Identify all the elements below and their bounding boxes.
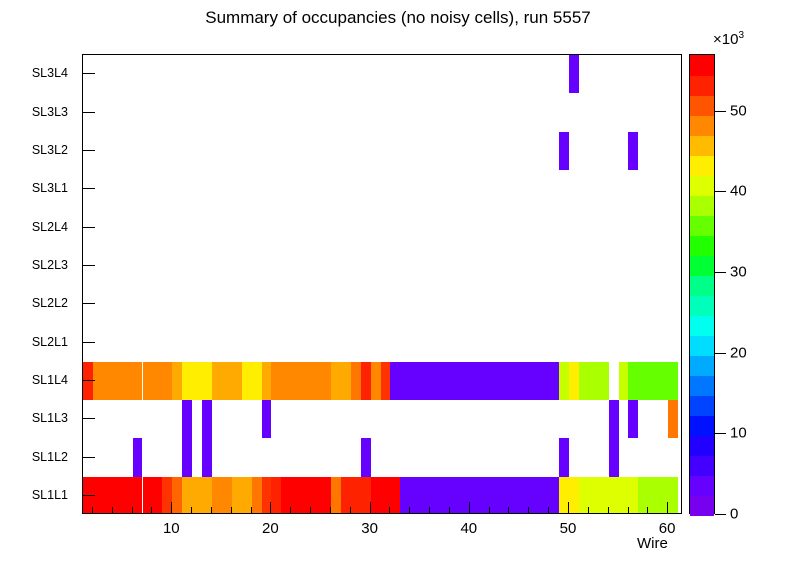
heatmap-cell [381, 362, 391, 400]
heatmap-cell [628, 400, 638, 438]
heatmap-cell [529, 477, 539, 514]
colorbar-band [690, 215, 714, 236]
x-axis-tick-minor [628, 507, 629, 514]
heatmap-cell [172, 362, 182, 400]
y-axis-label-sl3l3: SL3L3 [32, 105, 68, 119]
x-axis-tick-minor [548, 507, 549, 514]
y-axis-label-sl3l1: SL3L1 [32, 181, 68, 195]
heatmap-cell [182, 438, 192, 476]
y-axis-label-sl2l1: SL2L1 [32, 335, 68, 349]
heatmap-cell [291, 362, 301, 400]
colorbar-band [690, 255, 714, 276]
heatmap-cell [628, 477, 638, 514]
y-axis-tick [82, 227, 95, 228]
heatmap-cell [83, 362, 93, 400]
heatmap-cell [321, 362, 331, 400]
heatmap-cell [361, 362, 371, 400]
colorbar-tick-label: 40 [730, 183, 747, 200]
heatmap-cell [212, 362, 222, 400]
x-axis-tick-label: 40 [460, 520, 477, 537]
x-axis-tick-minor [191, 507, 192, 514]
x-axis-tick-major [469, 502, 470, 514]
y-axis-tick [82, 380, 95, 381]
heatmap-cell [410, 477, 420, 514]
y-axis-label-sl1l2: SL1L2 [32, 450, 68, 464]
x-axis-tick-major [667, 502, 668, 514]
heatmap-cell [430, 362, 440, 400]
heatmap-cell [609, 400, 619, 438]
colorbar-tick [715, 433, 726, 434]
colorbar-tick-label: 0 [730, 506, 738, 523]
y-axis-tick [82, 457, 95, 458]
x-axis-tick-minor [389, 507, 390, 514]
colorbar-exponent-label: ×103 [713, 30, 744, 48]
heatmap-cell [222, 362, 232, 400]
heatmap-cell [470, 362, 480, 400]
colorbar-band [690, 455, 714, 476]
heatmap-cell [143, 362, 153, 400]
colorbar-band [690, 155, 714, 176]
colorbar-band [690, 275, 714, 296]
colorbar-tick-label: 30 [730, 263, 747, 280]
colorbar-tick-label: 10 [730, 425, 747, 442]
root-canvas: Summary of occupancies (no noisy cells),… [0, 0, 796, 572]
x-axis-tick-label: 10 [163, 520, 180, 537]
heatmap-cell [202, 400, 212, 438]
page-title: Summary of occupancies (no noisy cells),… [0, 8, 796, 28]
x-axis-tick-minor [608, 507, 609, 514]
heatmap-cell [559, 362, 569, 400]
colorbar-band [690, 75, 714, 96]
colorbar-band [690, 415, 714, 436]
heatmap-cell [331, 477, 341, 514]
x-axis-tick-minor [330, 507, 331, 514]
heatmap-cell [450, 477, 460, 514]
heatmap-cell [410, 362, 420, 400]
heatmap-cell [609, 438, 619, 476]
heatmap-cell [311, 362, 321, 400]
heatmap-cell [192, 477, 202, 514]
heatmap-cell [172, 477, 182, 514]
x-axis-tick-minor [350, 507, 351, 514]
heatmap-cell [202, 362, 212, 400]
heatmap-cell [390, 362, 400, 400]
heatmap-cell [162, 362, 172, 400]
y-axis-label-sl2l4: SL2L4 [32, 220, 68, 234]
y-axis-label-sl2l2: SL2L2 [32, 296, 68, 310]
heatmap-cell [668, 362, 678, 400]
x-axis-tick-minor [449, 507, 450, 514]
x-axis-tick-minor [508, 507, 509, 514]
x-axis-tick-minor [310, 507, 311, 514]
heatmap-cell [609, 477, 619, 514]
heatmap-cell [569, 477, 579, 514]
heatmap-cell [242, 362, 252, 400]
y-axis-tick [82, 150, 95, 151]
x-axis-tick-major [171, 502, 172, 514]
colorbar-tick [715, 272, 726, 273]
heatmap-cell [579, 362, 589, 400]
heatmap-cell [519, 362, 529, 400]
heatmap-cell [341, 362, 351, 400]
colorbar-band [690, 115, 714, 136]
colorbar-band [690, 315, 714, 336]
heatmap-cell [569, 362, 579, 400]
colorbar-tick [715, 514, 726, 515]
x-axis-tick-minor [92, 507, 93, 514]
heatmap-cell [628, 132, 638, 170]
y-axis-tick [82, 73, 95, 74]
heatmap-cell [470, 477, 480, 514]
heatmap-cell [509, 477, 519, 514]
heatmap-cell [420, 362, 430, 400]
x-axis-tick-minor [112, 507, 113, 514]
heatmap-cell [460, 362, 470, 400]
heatmap-cell [619, 362, 629, 400]
heatmap-cell [361, 438, 371, 476]
heatmap-cell [252, 362, 262, 400]
x-axis-tick-minor [429, 507, 430, 514]
heatmap-cell [559, 438, 569, 476]
heatmap-cell [182, 400, 192, 438]
heatmap-cell [252, 477, 262, 514]
colorbar-band [690, 235, 714, 256]
heatmap-cell [103, 362, 113, 400]
y-axis-tick [82, 495, 95, 496]
x-axis-tick-minor [231, 507, 232, 514]
colorbar-band [690, 375, 714, 396]
x-axis-tick-minor [290, 507, 291, 514]
plot-area [82, 54, 682, 514]
heatmap-cell [400, 362, 410, 400]
heatmap-cell [202, 438, 212, 476]
colorbar-tick [715, 111, 726, 112]
heatmap-cell [351, 362, 361, 400]
colorbar-exponent-power: 3 [738, 30, 744, 41]
heatmap-cell [271, 477, 281, 514]
colorbar-band [690, 495, 714, 516]
x-axis-title: Wire [637, 535, 668, 552]
heatmap-cell [271, 362, 281, 400]
heatmap-cell [668, 400, 678, 438]
heatmap-cell [569, 55, 579, 93]
heatmap-cell [351, 477, 361, 514]
x-axis-tick-label: 30 [361, 520, 378, 537]
heatmap-cell [311, 477, 321, 514]
heatmap-cell [648, 477, 658, 514]
heatmap-cell [232, 477, 242, 514]
colorbar-band [690, 295, 714, 316]
heatmap-cell [430, 477, 440, 514]
heatmap-cell [232, 362, 242, 400]
y-axis-label-sl1l3: SL1L3 [32, 411, 68, 425]
colorbar-band [690, 335, 714, 356]
heatmap-cell [589, 362, 599, 400]
heatmap-cell [192, 362, 202, 400]
x-axis-tick-label: 20 [262, 520, 279, 537]
heatmap-cell [113, 362, 123, 400]
heatmap-cell [152, 477, 162, 514]
heatmap-cell [390, 477, 400, 514]
y-axis-label-sl1l1: SL1L1 [32, 488, 68, 502]
y-axis-label-sl1l4: SL1L4 [32, 373, 68, 387]
colorbar-band [690, 175, 714, 196]
x-axis-tick-minor [647, 507, 648, 514]
colorbar-band [690, 135, 714, 156]
heatmap-cell [371, 362, 381, 400]
heatmap-cell [549, 477, 559, 514]
x-axis-tick-minor [251, 507, 252, 514]
x-axis-tick-major [568, 502, 569, 514]
heatmap-cell [152, 362, 162, 400]
y-axis-tick [82, 303, 95, 304]
heatmap-cell [440, 362, 450, 400]
heatmap-cell [628, 362, 638, 400]
colorbar-band [690, 195, 714, 216]
x-axis-tick-major [370, 502, 371, 514]
x-axis-tick-minor [409, 507, 410, 514]
heatmap-cell [212, 477, 222, 514]
heatmap-cell [133, 362, 143, 400]
heatmap-cell [549, 362, 559, 400]
heatmap-cell [262, 362, 272, 400]
x-axis-tick-minor [588, 507, 589, 514]
x-axis-tick-minor [528, 507, 529, 514]
colorbar-tick-label: 20 [730, 344, 747, 361]
y-axis-tick [82, 265, 95, 266]
heatmap-cell [123, 362, 133, 400]
heatmap-cell [113, 477, 123, 514]
heatmap-cell [450, 362, 460, 400]
heatmap-cell [291, 477, 301, 514]
heatmap-cell [182, 362, 192, 400]
heatmap-cell [638, 362, 648, 400]
colorbar-exponent-base: ×10 [713, 31, 738, 48]
colorbar-band [690, 55, 714, 76]
heatmap-cells [83, 55, 681, 513]
colorbar-band [690, 395, 714, 416]
y-axis-tick [82, 418, 95, 419]
y-axis-label-sl3l2: SL3L2 [32, 143, 68, 157]
heatmap-cell [331, 362, 341, 400]
heatmap-cell [281, 362, 291, 400]
heatmap-cell [371, 477, 381, 514]
heatmap-cell [599, 362, 609, 400]
heatmap-cell [133, 477, 143, 514]
heatmap-cell [301, 362, 311, 400]
heatmap-cell [589, 477, 599, 514]
y-axis-tick [82, 342, 95, 343]
heatmap-cell [529, 362, 539, 400]
x-axis-tick-minor [132, 507, 133, 514]
colorbar-tick [715, 191, 726, 192]
heatmap-cell [668, 477, 678, 514]
x-axis-tick-minor [211, 507, 212, 514]
heatmap-cell [658, 362, 668, 400]
colorbar-band [690, 95, 714, 116]
y-axis-label-sl2l3: SL2L3 [32, 258, 68, 272]
x-axis-tick-label: 50 [560, 520, 577, 537]
heatmap-cell [480, 362, 490, 400]
colorbar-band [690, 475, 714, 496]
heatmap-cell [559, 132, 569, 170]
x-axis-tick-major [270, 502, 271, 514]
colorbar [689, 54, 715, 514]
heatmap-cell [648, 362, 658, 400]
y-axis-tick [82, 188, 95, 189]
colorbar-tick [715, 353, 726, 354]
x-axis-tick-minor [489, 507, 490, 514]
heatmap-cell [539, 362, 549, 400]
heatmap-cell [262, 400, 272, 438]
heatmap-cell [509, 362, 519, 400]
y-axis-label-sl3l4: SL3L4 [32, 66, 68, 80]
heatmap-cell [490, 477, 500, 514]
heatmap-cell [93, 362, 103, 400]
y-axis: SL1L1SL1L2SL1L3SL1L4SL2L1SL2L2SL2L3SL2L4… [0, 54, 82, 514]
heatmap-cell [490, 362, 500, 400]
colorbar-tick-label: 50 [730, 102, 747, 119]
colorbar-band [690, 355, 714, 376]
colorbar-band [690, 435, 714, 456]
x-axis-tick-minor [151, 507, 152, 514]
y-axis-tick [82, 112, 95, 113]
heatmap-cell [500, 362, 510, 400]
heatmap-cell [133, 438, 143, 476]
